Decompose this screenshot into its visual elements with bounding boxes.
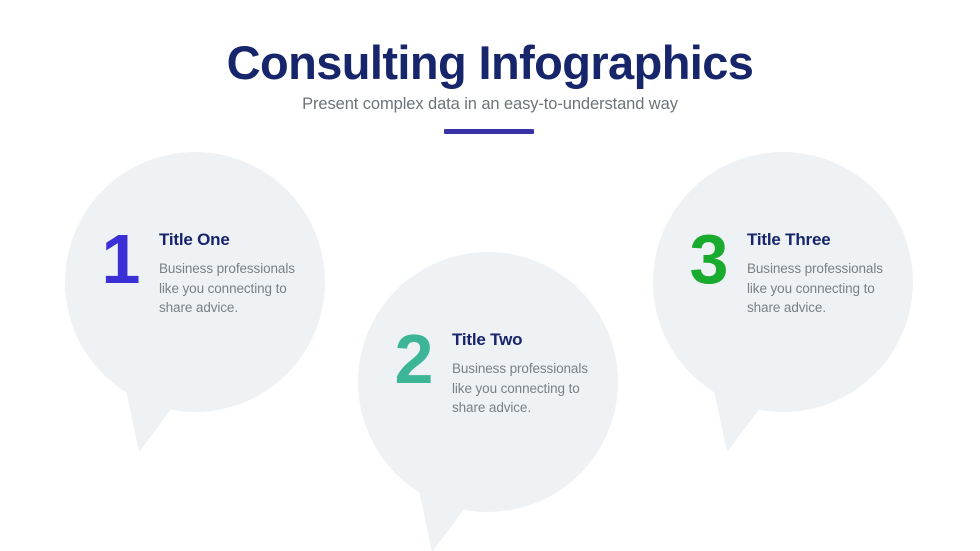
speech-bubble-item-2[interactable]: 2 Title Two Business professionals like … <box>358 252 618 512</box>
infographic-slide: Consulting Infographics Present complex … <box>0 0 980 551</box>
step-number-3: 3 <box>683 231 733 288</box>
step-number-2: 2 <box>388 331 438 388</box>
speech-bubble-tail-icon <box>705 348 805 452</box>
speech-bubble-item-1[interactable]: 1 Title One Business professionals like … <box>65 152 325 412</box>
page-subtitle: Present complex data in an easy-to-under… <box>0 95 980 114</box>
speech-bubble-content: 2 Title Two Business professionals like … <box>388 328 602 418</box>
step-number-1: 1 <box>95 231 145 288</box>
item-heading-2: Title Two <box>452 330 602 350</box>
item-description-2: Business professionals like you connecti… <box>452 359 602 418</box>
speech-bubble-tail-icon <box>117 348 217 452</box>
item-heading-1: Title One <box>159 230 309 250</box>
speech-bubble-text-block: Title One Business professionals like yo… <box>159 228 309 318</box>
speech-bubble-text-block: Title Two Business professionals like yo… <box>452 328 602 418</box>
speech-bubble-text-block: Title Three Business professionals like … <box>747 228 897 318</box>
speech-bubble-content: 3 Title Three Business professionals lik… <box>683 228 897 318</box>
title-underline-rule <box>444 129 534 134</box>
speech-bubble-tail-icon <box>410 448 510 551</box>
item-description-1: Business professionals like you connecti… <box>159 259 309 318</box>
page-title: Consulting Infographics <box>0 37 980 90</box>
speech-bubble-content: 1 Title One Business professionals like … <box>95 228 309 318</box>
item-description-3: Business professionals like you connecti… <box>747 259 897 318</box>
speech-bubble-item-3[interactable]: 3 Title Three Business professionals lik… <box>653 152 913 412</box>
item-heading-3: Title Three <box>747 230 897 250</box>
